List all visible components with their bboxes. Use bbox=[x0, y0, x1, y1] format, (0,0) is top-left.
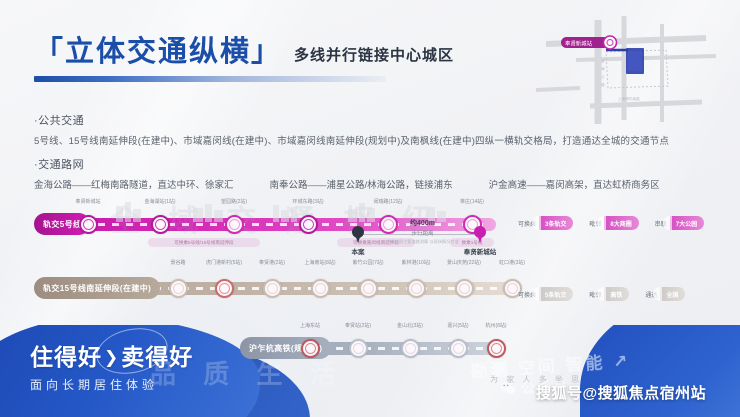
origin-label: 本案 bbox=[352, 246, 365, 256]
station-marker[interactable] bbox=[299, 215, 318, 234]
station-glyph-icon bbox=[363, 283, 374, 294]
brand-slogan-line1: 住得好 ❯ 卖得好 bbox=[30, 346, 193, 369]
station-marker[interactable] bbox=[79, 215, 98, 234]
station-glyph-icon bbox=[453, 343, 464, 354]
station-glyph-icon bbox=[315, 283, 326, 294]
pin-tail bbox=[355, 235, 361, 243]
station-glyph-icon bbox=[83, 219, 94, 230]
page-header: 「立体交通纵横」 多线并行链接中心城区 bbox=[34, 38, 454, 82]
station-label: 上海东站 bbox=[300, 322, 320, 329]
destination-label: 奉贤新城站 bbox=[464, 246, 497, 256]
station-label: 虹口港(3站) bbox=[499, 259, 525, 266]
station-label: 景山庆苑(22站) bbox=[447, 259, 481, 266]
brand-slogan-line2: 面向长期居住体验 bbox=[30, 376, 193, 393]
badge-value: 7大公园 bbox=[670, 216, 704, 230]
badge-group-metro5: 可换乘 3条轨交 毗邻 8大商圈 串联 7大公园 bbox=[518, 216, 704, 230]
badge[interactable]: 串联 7大公园 bbox=[655, 216, 704, 230]
station-glyph-icon bbox=[219, 283, 230, 294]
badge-value: 全国 bbox=[660, 287, 685, 301]
station-label: 上海南站(8站) bbox=[304, 259, 335, 266]
page-title: 「立体交通纵横」 bbox=[34, 38, 282, 67]
station-label: 奉贤港(2站) bbox=[259, 259, 285, 266]
chevron-right-icon: ❯ bbox=[104, 349, 119, 366]
station-glyph-icon bbox=[305, 343, 316, 354]
station-glyph-icon bbox=[229, 219, 240, 230]
badge[interactable]: 通达 全国 bbox=[645, 287, 685, 301]
svg-text:路: 路 bbox=[601, 82, 605, 87]
distance-annotation: 约400m 步行距离 根据地图主要道路测算 以现场情况为准 bbox=[386, 218, 458, 245]
station-glyph-icon bbox=[411, 283, 422, 294]
svg-text:上海浦东南路: 上海浦东南路 bbox=[618, 96, 640, 101]
station-marker[interactable] bbox=[359, 279, 378, 298]
station-marker[interactable] bbox=[407, 279, 426, 298]
brand-slogan-part-b: 卖得好 bbox=[121, 346, 193, 369]
title-underline-rule bbox=[34, 76, 386, 82]
station-glyph-icon bbox=[459, 283, 470, 294]
line-name-metro15[interactable]: 轨交15号线南延伸段(在建中) bbox=[34, 277, 160, 299]
badge[interactable]: 可换乘 3条轨交 bbox=[518, 216, 573, 230]
badge[interactable]: 毗邻 8大商圈 bbox=[589, 216, 638, 230]
station-label: 杭州(8站) bbox=[485, 322, 506, 329]
station-label: 金山北(3站) bbox=[397, 322, 423, 329]
svg-text:海: 海 bbox=[601, 66, 605, 71]
walking-distance-callout: 本案 奉贤新城站 约400m 步行距离 根据地图主要道路测算 以现场情况为准 bbox=[340, 204, 505, 256]
station-marker[interactable] bbox=[455, 279, 474, 298]
station-marker[interactable] bbox=[349, 339, 368, 358]
origin-pin-icon bbox=[352, 226, 364, 243]
badge-value: 8大商圈 bbox=[604, 216, 638, 230]
station-label: 奉贤新城站 bbox=[75, 198, 100, 205]
station-label: 金海湖站(1站) bbox=[144, 198, 175, 205]
badge-value: 3条轨交 bbox=[539, 216, 573, 230]
station-label: 嘉兴(5站) bbox=[447, 322, 468, 329]
pin-tail bbox=[477, 235, 483, 243]
destination-pin-icon bbox=[474, 226, 486, 243]
station-marker[interactable] bbox=[215, 279, 234, 298]
svg-text:公: 公 bbox=[601, 74, 605, 79]
road-network-heading: ·交通路网 bbox=[34, 156, 734, 172]
slide-page: 全 域 交 通 枢 纽 「立体交通纵横」 多线并行链接中心城区 ·公共交通 5号… bbox=[0, 0, 740, 417]
station-marker[interactable] bbox=[401, 339, 420, 358]
station-marker[interactable] bbox=[225, 215, 244, 234]
station-glyph-icon bbox=[267, 283, 278, 294]
road-item-0: 金海公路——红梅南路隧道，直达中环、徐家汇 bbox=[34, 177, 234, 191]
station-glyph-icon bbox=[507, 283, 518, 294]
station-marker[interactable] bbox=[311, 279, 330, 298]
station-marker[interactable] bbox=[301, 339, 320, 358]
station-label: 望园路(2站) bbox=[221, 198, 247, 205]
station-marker[interactable] bbox=[263, 279, 282, 298]
map-station-label: 奉贤新城站 bbox=[565, 40, 593, 48]
station-label: 紫林港(10站) bbox=[402, 259, 431, 266]
badge[interactable]: 毗邻 高铁 bbox=[589, 287, 629, 301]
station-glyph-icon bbox=[491, 343, 502, 354]
map-svg: 奉贤新城站 金海 公路 上海浦东南路 bbox=[506, 16, 734, 128]
page-subtitle: 多线并行链接中心城区 bbox=[294, 44, 454, 67]
road-item-2: 沪金高速——嘉闵高架，直达虹桥商务区 bbox=[489, 177, 660, 191]
badge[interactable]: 可换乘 5条轨交 bbox=[518, 287, 573, 301]
station-glyph-icon bbox=[405, 343, 416, 354]
wechat-icon bbox=[500, 381, 516, 395]
station-label: 奉贤站(2站) bbox=[345, 322, 371, 329]
title-row: 「立体交通纵横」 多线并行链接中心城区 bbox=[34, 38, 454, 67]
svg-text:金: 金 bbox=[601, 58, 605, 63]
brand-slogan-part-a: 住得好 bbox=[30, 346, 102, 369]
station-marker[interactable] bbox=[169, 279, 188, 298]
station-marker[interactable] bbox=[151, 215, 170, 234]
distance-disclaimer: 根据地图主要道路测算 以现场情况为准 bbox=[386, 239, 458, 245]
distance-caption: 步行距离 bbox=[386, 229, 458, 237]
badge-group-metro15: 可换乘 5条轨交 毗邻 高铁 通达 全国 bbox=[518, 287, 685, 301]
badge-value: 高铁 bbox=[604, 287, 629, 301]
station-glyph-icon bbox=[155, 219, 166, 230]
station-label: 虎门港新村(5站) bbox=[206, 259, 242, 266]
road-network-list: 金海公路——红梅南路隧道，直达中环、徐家汇 南奉公路——浦星公路/林海公路，链接… bbox=[34, 177, 734, 191]
line-note-chip: 可换乘5号线/15号线南延伸段 bbox=[148, 238, 260, 247]
station-glyph-icon bbox=[353, 343, 364, 354]
station-marker[interactable] bbox=[487, 339, 506, 358]
brand-slogan: 住得好 ❯ 卖得好 面向长期居住体验 bbox=[30, 346, 193, 393]
distance-value: 约400m bbox=[386, 218, 458, 228]
road-item-1: 南奉公路——浦星公路/林海公路，链接浦东 bbox=[270, 177, 453, 191]
location-map-inset[interactable]: 奉贤新城站 金海 公路 上海浦东南路 bbox=[506, 16, 734, 128]
map-project-parcel-inner bbox=[628, 51, 642, 71]
station-marker[interactable] bbox=[449, 339, 468, 358]
sohu-attribution: 搜狐号@搜狐焦点宿州站 bbox=[536, 382, 706, 403]
badge-value: 5条轨交 bbox=[539, 287, 573, 301]
station-label: 紫竹公园(7站) bbox=[352, 259, 383, 266]
public-transit-body: 5号线、15号线南延伸段(在建中)、市域嘉闵线(在建中)、市域嘉闵线南延伸段(规… bbox=[34, 133, 734, 147]
station-glyph-icon bbox=[173, 283, 184, 294]
station-label: 环城东路(3站) bbox=[292, 198, 323, 205]
station-label: 景谷路 bbox=[170, 259, 185, 266]
station-glyph-icon bbox=[303, 219, 314, 230]
